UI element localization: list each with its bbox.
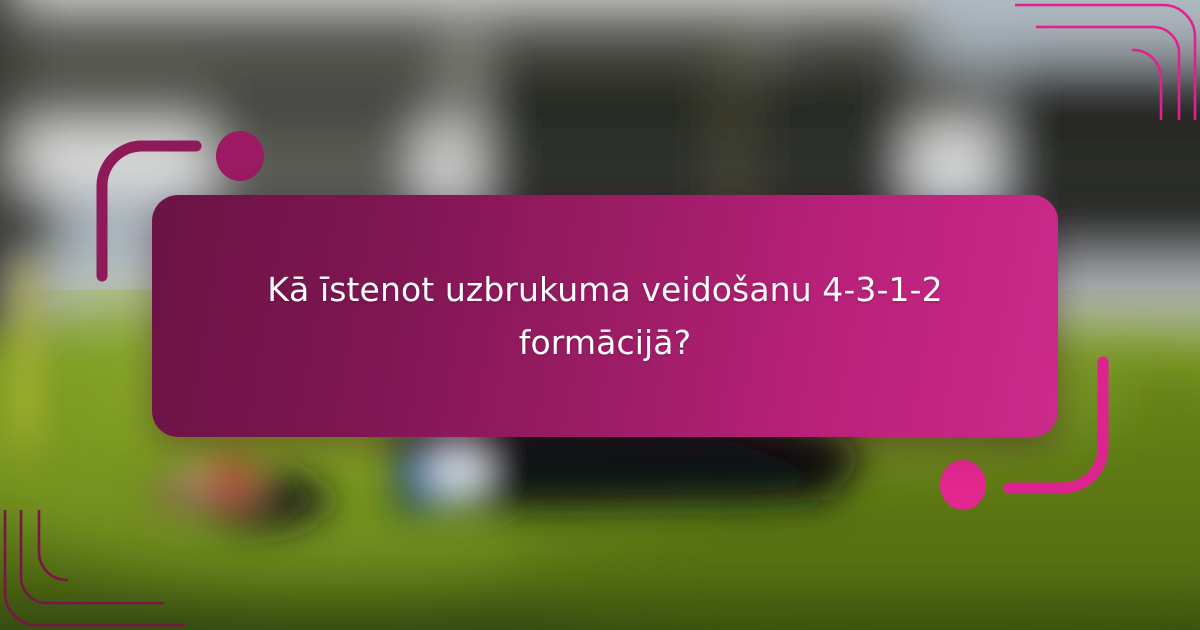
question-title: Kā īstenot uzbrukuma veidošanu 4-3-1-2 f… [255, 263, 955, 370]
question-card: Kā īstenot uzbrukuma veidošanu 4-3-1-2 f… [152, 195, 1058, 437]
social-card-canvas: Kā īstenot uzbrukuma veidošanu 4-3-1-2 f… [0, 0, 1200, 630]
